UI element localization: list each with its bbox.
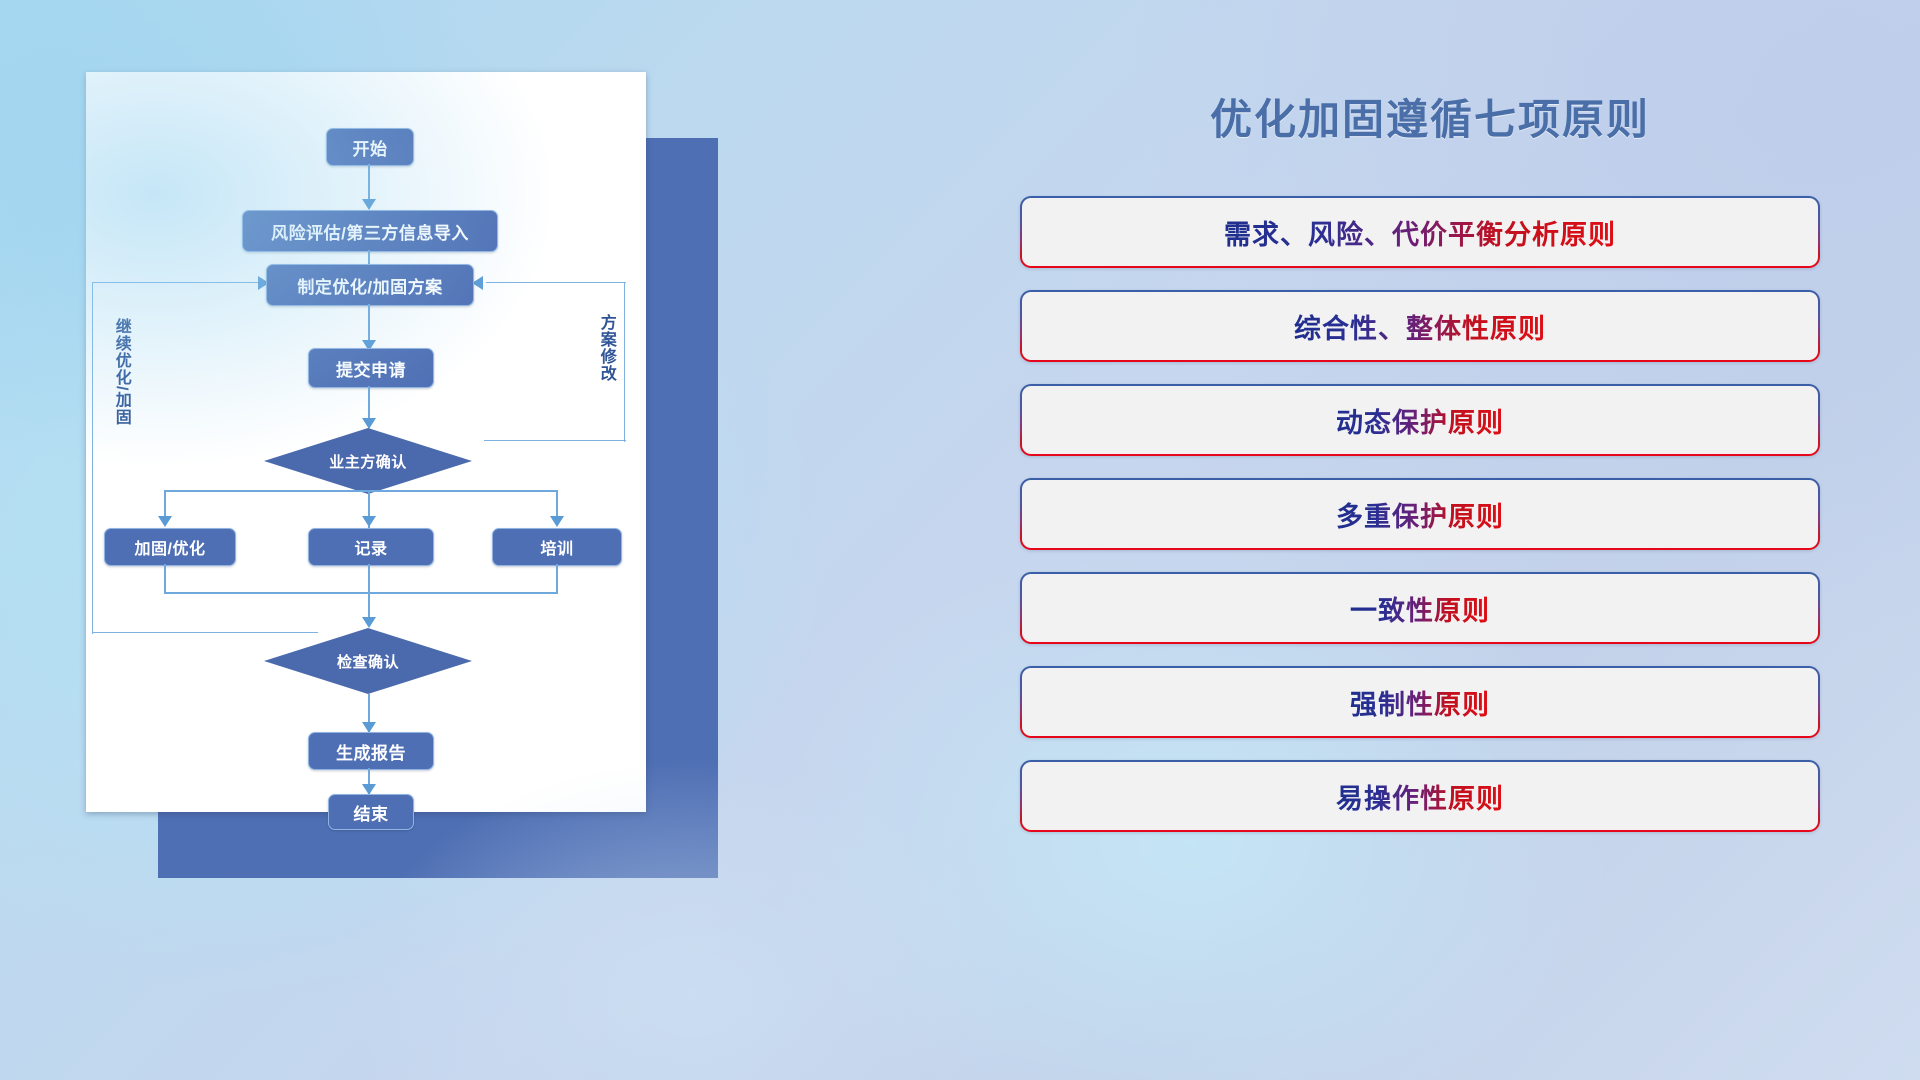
flowchart-panel: 开始 风险评估/第三方信息导入 制定优化/加固方案 提交申请 xyxy=(86,72,646,812)
branch-bus-top xyxy=(164,490,556,492)
node-end-label: 结束 xyxy=(354,800,389,825)
loop-left-vertical xyxy=(92,282,93,634)
merge-bus xyxy=(164,592,556,594)
edge-label-continue-optimize: 继续优化/加固 xyxy=(112,318,129,425)
loop-right-vertical xyxy=(624,282,625,442)
list-item[interactable]: 需求、风险、代价平衡分析原则 xyxy=(1020,196,1820,268)
merge-arrow xyxy=(362,617,376,628)
node-submit-application-label: 提交申请 xyxy=(336,356,406,381)
list-item[interactable]: 综合性、整体性原则 xyxy=(1020,290,1820,362)
loop-right-top xyxy=(486,282,626,283)
branch-mid-arrow xyxy=(362,516,376,527)
principles-list: 需求、风险、代价平衡分析原则 综合性、整体性原则 动态保护原则 多重保护原则 一… xyxy=(1020,196,1820,854)
node-make-plan-label: 制定优化/加固方案 xyxy=(297,273,442,298)
branch-left-arrow xyxy=(158,516,172,527)
node-record[interactable]: 记录 xyxy=(308,528,434,566)
page-title: 优化加固遵循七项原则 xyxy=(1020,86,1840,147)
principle-label: 动态保护原则 xyxy=(1336,401,1504,440)
node-end[interactable]: 结束 xyxy=(328,794,414,830)
node-submit-application[interactable]: 提交申请 xyxy=(308,348,434,388)
node-check-confirm[interactable]: 检查确认 xyxy=(264,628,472,694)
node-reinforce[interactable]: 加固/优化 xyxy=(104,528,236,566)
branch-right-arrow xyxy=(550,516,564,527)
node-record-label: 记录 xyxy=(354,535,387,559)
node-training-label: 培训 xyxy=(540,535,573,559)
principle-label: 综合性、整体性原则 xyxy=(1294,307,1546,346)
slide-background: 开始 风险评估/第三方信息导入 制定优化/加固方案 提交申请 xyxy=(0,0,1920,1080)
node-generate-report[interactable]: 生成报告 xyxy=(308,732,434,770)
edge-start-risk-arrow xyxy=(362,199,376,210)
principle-label: 多重保护原则 xyxy=(1336,495,1504,534)
list-item[interactable]: 多重保护原则 xyxy=(1020,478,1820,550)
flowchart-card: 开始 风险评估/第三方信息导入 制定优化/加固方案 提交申请 xyxy=(86,72,646,812)
node-reinforce-label: 加固/优化 xyxy=(135,535,206,559)
node-start[interactable]: 开始 xyxy=(326,128,414,166)
principle-label: 需求、风险、代价平衡分析原则 xyxy=(1224,213,1616,252)
node-risk-assessment-label: 风险评估/第三方信息导入 xyxy=(271,219,469,244)
list-item[interactable]: 一致性原则 xyxy=(1020,572,1820,644)
list-item[interactable]: 强制性原则 xyxy=(1020,666,1820,738)
merge-left-riser xyxy=(164,564,166,594)
loop-right-bottom xyxy=(484,440,626,441)
node-make-plan[interactable]: 制定优化/加固方案 xyxy=(266,264,474,306)
node-start-label: 开始 xyxy=(353,135,388,160)
node-owner-confirm[interactable]: 业主方确认 xyxy=(264,428,472,494)
principles-panel: 优化加固遵循七项原则 需求、风险、代价平衡分析原则 综合性、整体性原则 动态保护… xyxy=(1020,86,1840,1016)
list-item[interactable]: 动态保护原则 xyxy=(1020,384,1820,456)
principle-label: 强制性原则 xyxy=(1350,683,1490,722)
node-owner-confirm-label: 业主方确认 xyxy=(264,428,472,494)
principle-label: 一致性原则 xyxy=(1350,589,1490,628)
node-training[interactable]: 培训 xyxy=(492,528,622,566)
principle-label: 易操作性原则 xyxy=(1336,777,1504,816)
list-item[interactable]: 易操作性原则 xyxy=(1020,760,1820,832)
node-generate-report-label: 生成报告 xyxy=(336,739,406,764)
node-risk-assessment[interactable]: 风险评估/第三方信息导入 xyxy=(242,210,498,252)
merge-right-riser xyxy=(556,564,558,594)
node-check-confirm-label: 检查确认 xyxy=(264,628,472,694)
loop-left-top xyxy=(92,282,260,283)
edge-label-plan-revision: 方案修改 xyxy=(597,314,614,382)
